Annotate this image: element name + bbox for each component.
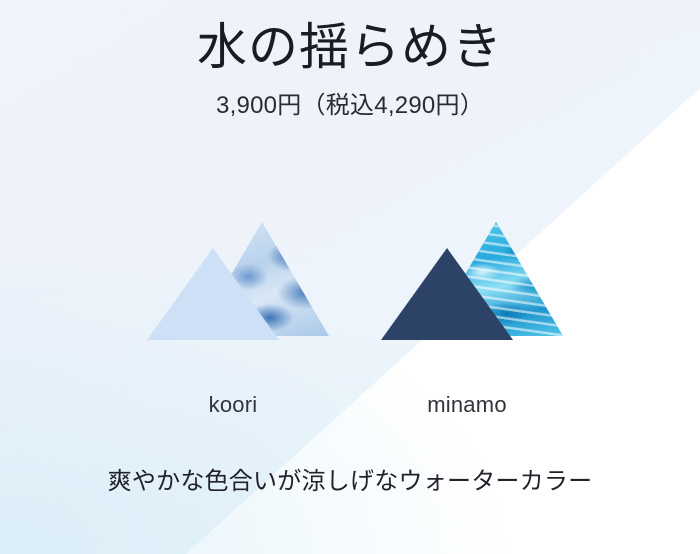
product-title: 水の揺らめき	[0, 0, 700, 77]
variant-label-minamo: minamo	[427, 340, 507, 418]
variant-option-minamo[interactable]: minamo	[362, 210, 572, 418]
color-swatch-koori[interactable]	[133, 210, 333, 340]
variant-option-koori[interactable]: koori	[128, 210, 338, 418]
product-caption: 爽やかな色合いが涼しげなウォーターカラー	[0, 466, 700, 498]
product-header: 水の揺らめき 3,900円（税込4,290円）	[0, 0, 700, 121]
variant-list: koori minamo	[0, 210, 700, 418]
product-price: 3,900円（税込4,290円）	[0, 77, 700, 121]
color-swatch-minamo[interactable]	[367, 210, 567, 340]
product-card: 水の揺らめき 3,900円（税込4,290円） koori minamo 爽やか…	[0, 0, 700, 554]
variant-label-koori: koori	[209, 340, 258, 418]
